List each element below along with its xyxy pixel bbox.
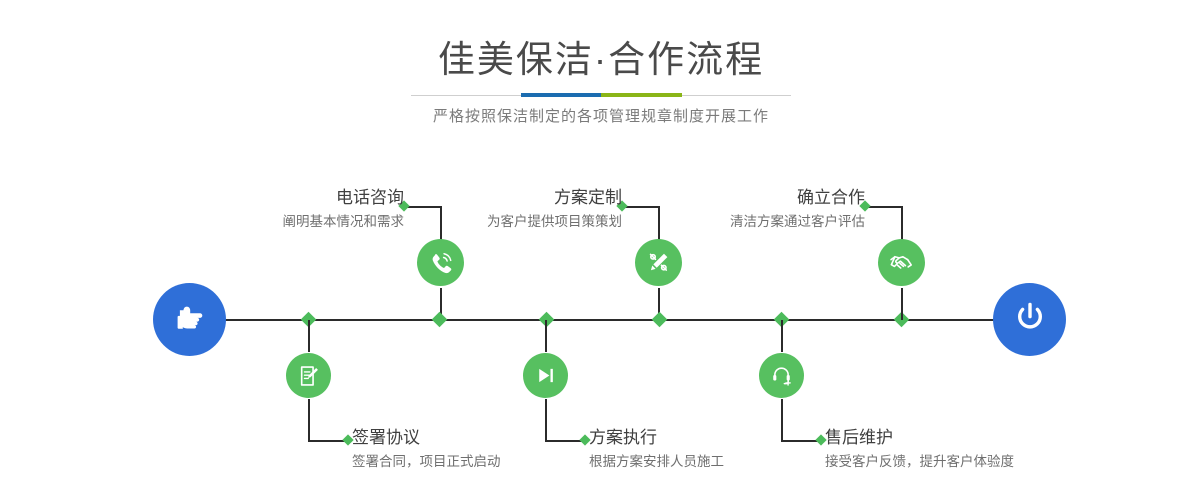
connector-vertical-lower — [901, 288, 903, 320]
connector-horizontal — [308, 440, 346, 442]
connector-vertical — [781, 399, 783, 441]
step-desc: 为客户提供项目策策划 — [358, 212, 622, 232]
title-divider-green-segment — [601, 93, 682, 97]
step-icon-bubble[interactable] — [286, 353, 331, 398]
pencil-ruler-icon — [645, 249, 672, 276]
timeline-start-node — [153, 283, 226, 356]
step-icon-bubble[interactable] — [878, 239, 925, 286]
phone-call-icon — [427, 249, 455, 277]
connector-vertical-upper — [545, 320, 547, 352]
headset-add-icon — [769, 363, 794, 388]
connector-vertical-upper — [308, 320, 310, 352]
step-desc: 接受客户反馈，提升客户体验度 — [825, 452, 1125, 472]
axis-marker — [432, 312, 448, 328]
document-edit-icon — [296, 363, 322, 389]
step-icon-bubble[interactable] — [523, 353, 568, 398]
play-next-icon — [533, 363, 558, 388]
step-label: 确立合作 清洁方案通过客户评估 — [601, 187, 865, 232]
step-icon-bubble[interactable] — [417, 239, 464, 286]
connector-horizontal — [781, 440, 819, 442]
title-divider-blue-segment — [521, 93, 601, 97]
pointing-hand-icon — [170, 297, 210, 342]
step-title: 方案定制 — [358, 187, 622, 209]
connector-vertical-upper — [781, 320, 783, 352]
handshake-icon — [888, 249, 915, 276]
page-subtitle: 严格按照保洁制定的各项管理规章制度开展工作 — [0, 106, 1202, 128]
connector-vertical — [545, 399, 547, 441]
axis-marker — [652, 312, 668, 328]
step-title: 售后维护 — [825, 427, 1125, 449]
connector-vertical — [901, 206, 903, 241]
step-label: 方案定制 为客户提供项目策策划 — [358, 187, 622, 232]
power-icon — [1010, 297, 1050, 342]
step-title: 确立合作 — [601, 187, 865, 209]
step-icon-bubble[interactable] — [759, 353, 804, 398]
connector-vertical — [308, 399, 310, 441]
step-icon-bubble[interactable] — [635, 239, 682, 286]
flowchart-canvas: 佳美保洁·合作流程 严格按照保洁制定的各项管理规章制度开展工作 — [0, 0, 1202, 502]
connector-horizontal — [865, 206, 903, 208]
timeline-end-node — [993, 283, 1066, 356]
page-title: 佳美保洁·合作流程 — [0, 38, 1202, 82]
step-label: 售后维护 接受客户反馈，提升客户体验度 — [825, 427, 1125, 472]
connector-horizontal — [545, 440, 583, 442]
step-desc: 清洁方案通过客户评估 — [601, 212, 865, 232]
